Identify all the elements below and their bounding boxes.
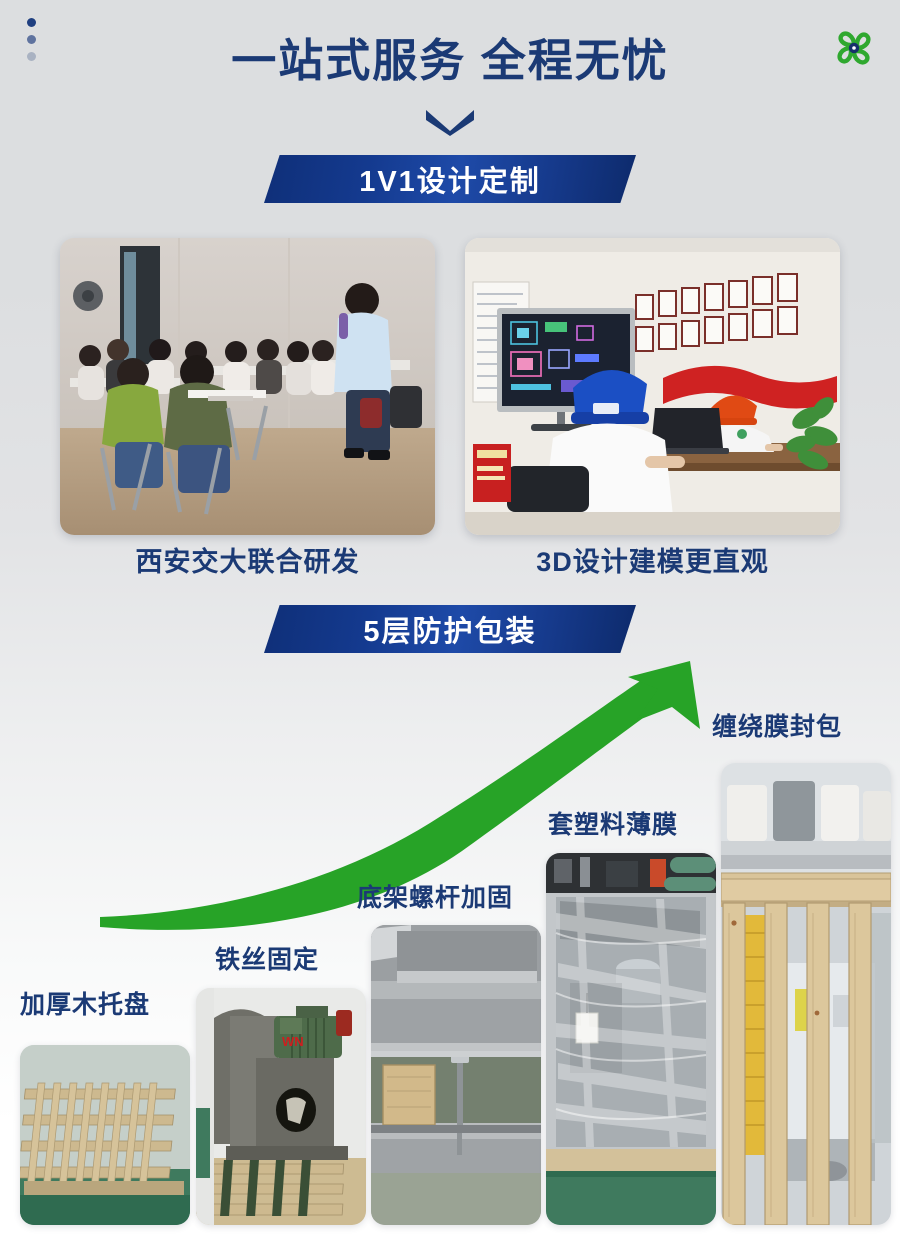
svg-text:WN: WN: [282, 1034, 304, 1049]
base-frame-bolt-photo: [371, 925, 541, 1225]
blower-on-pallet-photo: WN: [196, 988, 366, 1225]
section-banner-design: 1V1设计定制: [264, 155, 636, 203]
promo-page: 一站式服务 全程无忧 1V1设计定制: [0, 0, 900, 1249]
wooden-pallet-photo: [20, 1045, 190, 1225]
step-label-1: 加厚木托盘: [20, 985, 150, 1021]
section-banner-packaging: 5层防护包装: [264, 605, 636, 653]
page-title: 一站式服务 全程无忧: [0, 36, 900, 86]
step-label-5: 缠绕膜封包: [712, 707, 842, 743]
chevron-down-icon: [0, 106, 900, 141]
photo-caption-left: 西安交大联合研发: [60, 540, 435, 579]
wooden-crate-packed-photo: [721, 763, 891, 1225]
step-label-2: 铁丝固定: [215, 940, 319, 976]
training-classroom-photo: [60, 238, 435, 535]
photo-caption-right: 3D设计建模更直观: [465, 540, 840, 579]
step-label-4: 套塑料薄膜: [548, 805, 678, 841]
engineers-at-desk-with-cad-screen-photo: [465, 238, 840, 535]
dot-1: [27, 18, 36, 27]
step-label-3: 底架螺杆加固: [357, 878, 513, 914]
plastic-film-wrapped-photo: [546, 853, 716, 1225]
